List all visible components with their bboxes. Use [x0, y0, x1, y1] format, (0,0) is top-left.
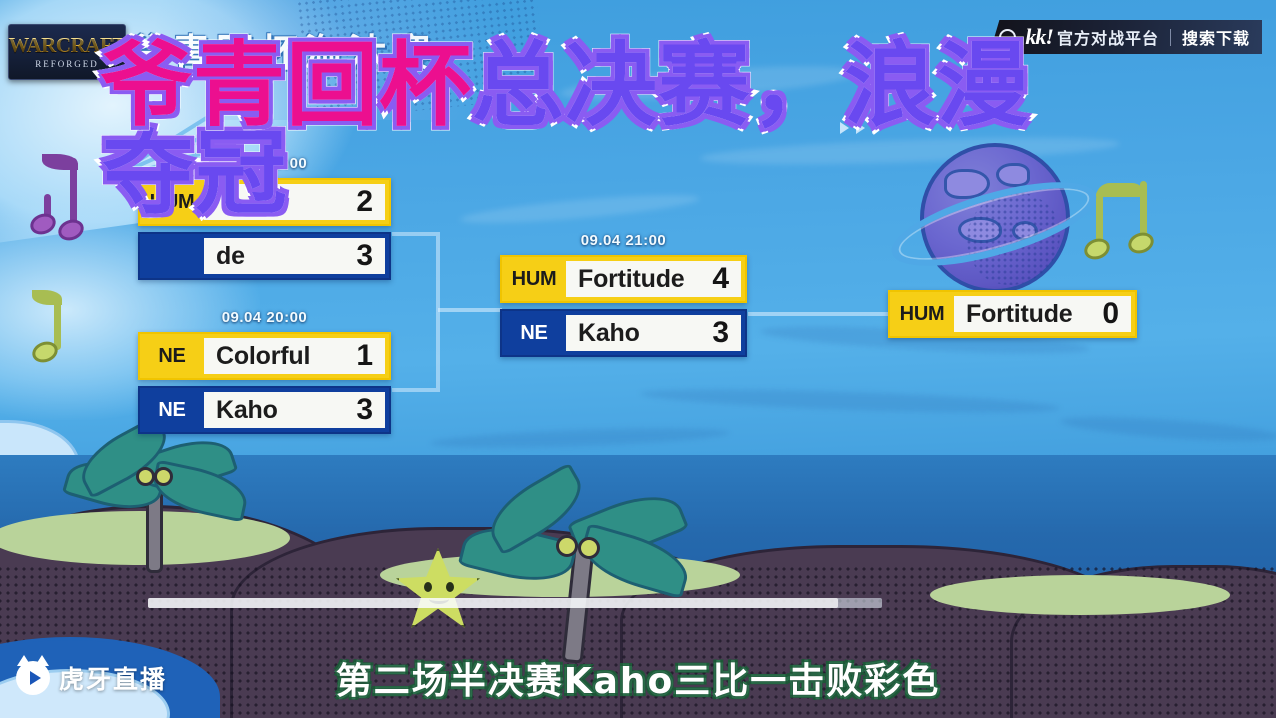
- team-name: Kaho: [216, 396, 350, 425]
- race-tag: NE: [140, 388, 204, 432]
- race-tag: NE: [140, 334, 204, 378]
- match-time: 09.04 21:00: [500, 232, 747, 249]
- bracket-row[interactable]: HUM Fortitude 0: [888, 290, 1137, 338]
- overlay-headline-pink: 爷青回杯: [100, 32, 472, 139]
- team-plate: Kaho 3: [566, 315, 741, 351]
- team-name: de: [216, 242, 350, 271]
- overlay-headline-purple: 总决赛，浪漫: [472, 32, 1030, 139]
- team-plate: de 3: [204, 238, 385, 274]
- race-tag: HUM: [502, 257, 566, 301]
- match-final: 09.04 21:00 HUM Fortitude 4 NE Kaho 3: [500, 255, 747, 357]
- team-plate: Fortitude 4: [566, 261, 741, 297]
- team-score: 3: [706, 316, 729, 350]
- match-semifinal-2: 09.04 20:00 NE Colorful 1 NE Kaho 3: [138, 332, 391, 434]
- team-plate: Kaho 3: [204, 392, 385, 428]
- race-tag: HUM: [890, 292, 954, 336]
- team-name: Fortitude: [966, 300, 1096, 329]
- race-tag: [140, 234, 204, 278]
- bracket-connector: [438, 308, 502, 312]
- team-score: 3: [350, 393, 373, 427]
- bracket-row[interactable]: NE Colorful 1: [138, 332, 391, 380]
- huya-channel-name: 虎牙直播: [59, 660, 167, 696]
- team-plate: Colorful 1: [204, 338, 385, 374]
- huya-channel-logo: 虎牙直播: [16, 660, 167, 696]
- team-score: 3: [350, 239, 373, 273]
- race-tag: NE: [502, 311, 566, 355]
- subtitle-caption: 第二场半决赛Kaho三比一击败彩色: [0, 652, 1276, 704]
- team-name: Kaho: [578, 319, 706, 348]
- team-name: Fortitude: [578, 265, 706, 294]
- match-time: 09.04 20:00: [138, 309, 391, 326]
- bracket-connector: [748, 312, 890, 316]
- team-score: 0: [1096, 297, 1119, 331]
- team-name: Colorful: [216, 342, 350, 371]
- bracket-row[interactable]: HUM Fortitude 4: [500, 255, 747, 303]
- bracket-row[interactable]: NE Kaho 3: [138, 386, 391, 434]
- team-score: 4: [706, 262, 729, 296]
- team-plate: Fortitude 0: [954, 296, 1131, 332]
- bracket-row[interactable]: NE Kaho 3: [500, 309, 747, 357]
- overlay-headline: 爷青回杯总决赛，浪漫 夺冠: [100, 42, 1200, 219]
- bracket-connector: [392, 232, 440, 392]
- team-score: 1: [350, 339, 373, 373]
- bracket-row[interactable]: de 3: [138, 232, 391, 280]
- huya-cat-play-icon: [16, 661, 50, 695]
- match-champion: HUM Fortitude 0: [888, 290, 1137, 338]
